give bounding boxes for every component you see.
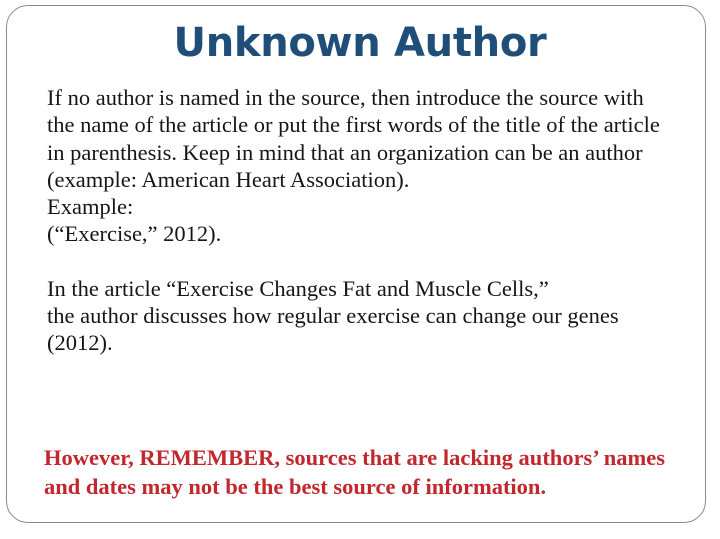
slide-body-content: If no author is named in the source, the… <box>47 84 672 357</box>
body-paragraph-article-summary: the author discusses how regular exercis… <box>47 302 672 357</box>
body-paragraph-intro: If no author is named in the source, the… <box>47 84 672 193</box>
warning-note-text: However, REMEMBER, sources that are lack… <box>44 443 689 501</box>
body-paragraph-example-label: Example: <box>47 193 672 220</box>
page-title: Unknown Author <box>0 20 720 66</box>
paragraph-spacer <box>47 248 672 275</box>
warning-note: However, REMEMBER, sources that are lack… <box>44 443 689 501</box>
body-paragraph-article-title: In the article “Exercise Changes Fat and… <box>47 275 672 302</box>
body-paragraph-example-citation: (“Exercise,” 2012). <box>47 220 672 247</box>
slide-canvas: Unknown Author If no author is named in … <box>0 0 720 539</box>
